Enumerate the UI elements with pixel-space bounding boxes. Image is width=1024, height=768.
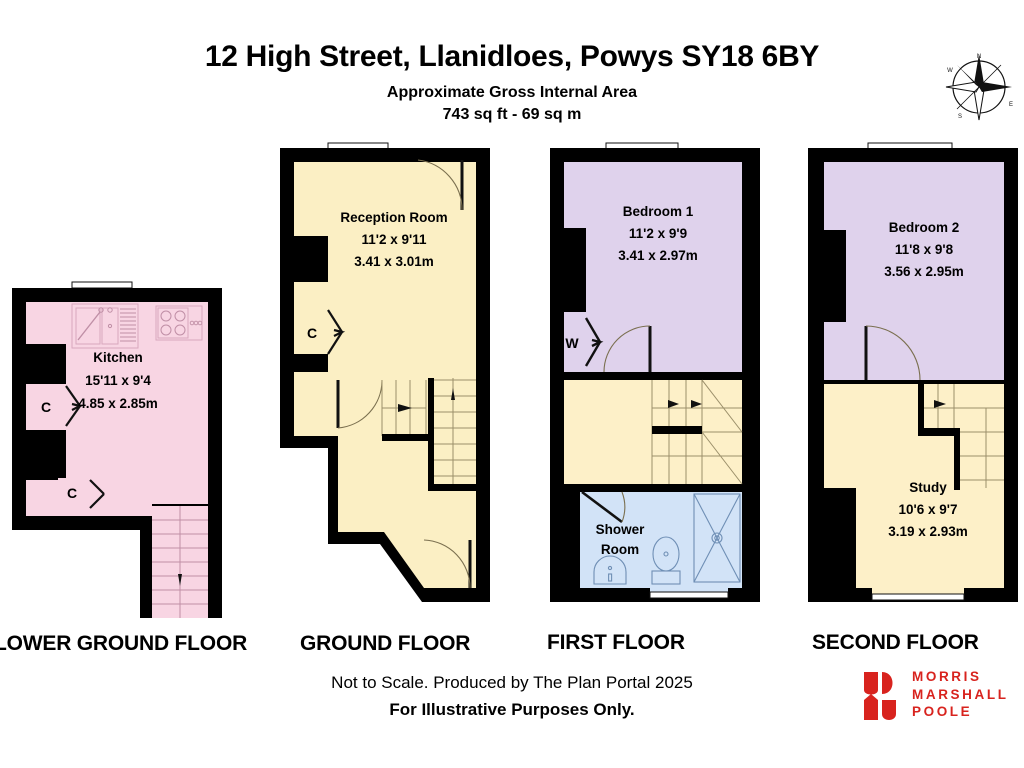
gross-area-value: 743 sq ft - 69 sq m xyxy=(0,106,1024,124)
cupboard-upper-label: C xyxy=(41,399,51,415)
floorplan-lower-ground: C C Kitchen 15'11 x 9'4 4.8 xyxy=(0,140,240,620)
page-title: 12 High Street, Llanidloes, Powys SY18 6… xyxy=(0,40,1024,74)
room-dim-metric-bedroom1: 3.41 x 2.97m xyxy=(618,248,698,263)
logo-line-2: MARSHALL xyxy=(912,686,1009,704)
room-name-bedroom1: Bedroom 1 xyxy=(623,204,694,219)
floor-label-ground: GROUND FLOOR xyxy=(300,632,470,656)
room-dim-metric-bedroom2: 3.56 x 2.95m xyxy=(884,264,964,279)
logo-line-3: POOLE xyxy=(912,703,1009,721)
floorplan-sheet: 12 High Street, Llanidloes, Powys SY18 6… xyxy=(0,0,1024,768)
floor-label-first: FIRST FLOOR xyxy=(547,631,685,655)
logo-mark-icon xyxy=(862,670,904,722)
room-dim-metric-kitchen: 4.85 x 2.85m xyxy=(78,396,158,411)
room-dim-imperial-bedroom1: 11'2 x 9'9 xyxy=(629,226,687,241)
gross-area-label: Approximate Gross Internal Area xyxy=(0,84,1024,102)
floorplan-second: Bedroom 2 11'8 x 9'8 3.56 x 2.95m xyxy=(800,140,1024,610)
morris-marshall-poole-logo: MORRIS MARSHALL POOLE xyxy=(862,668,1012,724)
room-name-reception: Reception Room xyxy=(340,210,447,225)
floorplan-ground: Reception Room 11'2 x 9'11 3.41 x 3.01m … xyxy=(272,140,512,610)
compass-east-label: E xyxy=(1009,102,1013,108)
room-dim-imperial-bedroom2: 11'8 x 9'8 xyxy=(895,242,954,257)
compass-west-label: W xyxy=(947,68,953,74)
stair-edge xyxy=(382,434,428,441)
room-dim-imperial-study: 10'6 x 9'7 xyxy=(899,502,958,517)
window-icon xyxy=(72,282,132,288)
logo-wordmark: MORRIS MARSHALL POOLE xyxy=(912,668,1009,721)
logo-line-1: MORRIS xyxy=(912,668,1009,686)
compass-south-label: S xyxy=(958,114,962,120)
chimney-breast xyxy=(294,236,328,282)
room-dim-imperial-kitchen: 15'11 x 9'4 xyxy=(85,373,151,388)
chimney-breast xyxy=(824,230,846,322)
room-name-bedroom2: Bedroom 2 xyxy=(889,220,960,235)
room-dim-imperial-reception: 11'2 x 9'11 xyxy=(362,232,427,247)
room-dim-metric-study: 3.19 x 2.93m xyxy=(888,524,968,539)
bedroom1-floor-area xyxy=(564,162,742,372)
compass-north-label: N xyxy=(977,54,981,60)
window-icon-bottom xyxy=(872,594,964,600)
room-name-study: Study xyxy=(909,480,947,495)
room-dim-metric-reception: 3.41 x 3.01m xyxy=(354,254,434,269)
room-name-shower-line2: Room xyxy=(601,542,639,557)
floorplan-first: Bedroom 1 11'2 x 9'9 3.41 x 2.97m W xyxy=(542,140,782,610)
stair-edge xyxy=(918,428,960,436)
wardrobe-label: W xyxy=(565,335,579,351)
window-icon-bottom xyxy=(650,592,728,598)
cupboard-label: C xyxy=(307,325,317,341)
cupboard-lower-label: C xyxy=(67,485,77,501)
compass-rose-icon: N E S W xyxy=(938,46,1020,128)
chimney-breast xyxy=(564,228,586,312)
floor-label-lower-ground: LOWER GROUND FLOOR xyxy=(0,632,247,656)
room-name-kitchen: Kitchen xyxy=(93,350,143,365)
stair-edge xyxy=(652,426,702,434)
room-name-shower-line1: Shower xyxy=(596,522,646,537)
floor-label-second: SECOND FLOOR xyxy=(812,631,979,655)
